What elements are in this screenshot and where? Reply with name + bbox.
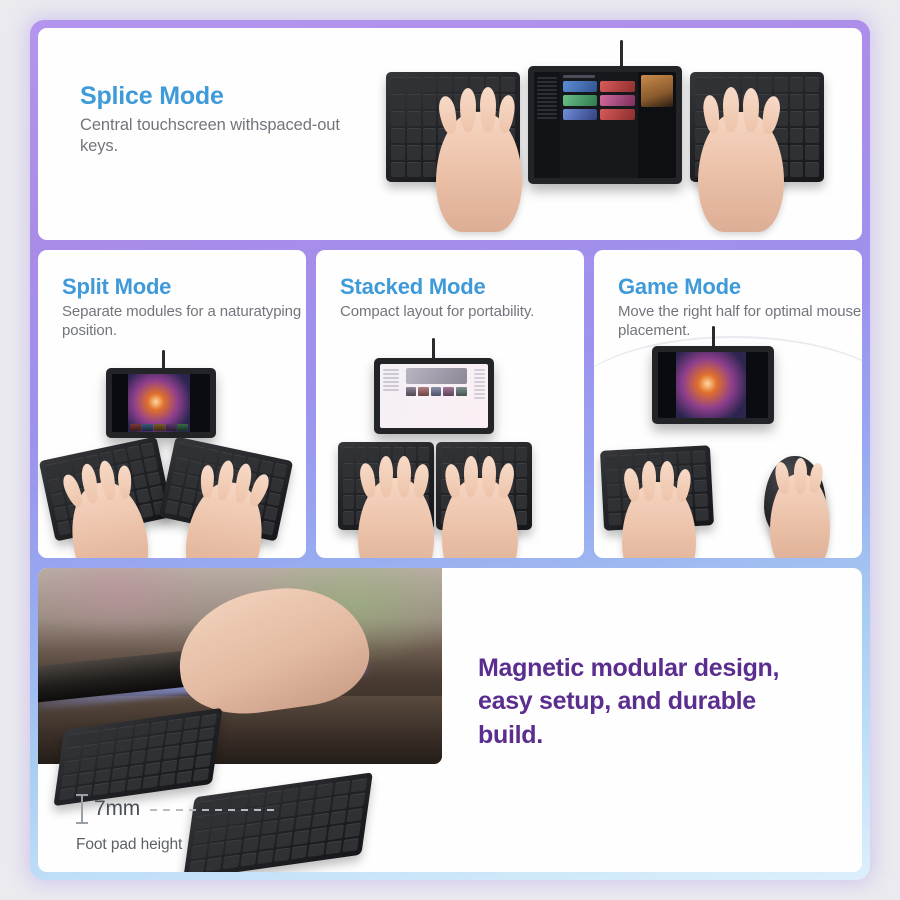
keyboard-module-front-right (183, 772, 373, 872)
panel-game-mode: Game Mode Move the right half for optima… (594, 250, 862, 558)
splice-product-image (38, 28, 862, 240)
cable (432, 338, 435, 360)
music-app-ui (534, 72, 676, 178)
game-stream-ui (658, 352, 768, 418)
hand-left (358, 478, 434, 558)
hero-claim-text: Magnetic modular design, easy setup, and… (478, 652, 822, 752)
hand-right (698, 112, 784, 232)
stacked-product-image (316, 250, 584, 558)
cable (712, 326, 715, 348)
product-feature-frame: Splice Mode Central touchscreen withspac… (30, 20, 870, 880)
center-touchscreen[interactable] (528, 66, 682, 184)
panel-hero-claim: 7mm Foot pad height Magnetic modular des… (38, 568, 862, 872)
split-product-image (38, 250, 306, 558)
hero-claim-side: Magnetic modular design, easy setup, and… (442, 568, 862, 872)
stacked-touchscreen[interactable] (374, 358, 494, 434)
browser-ui (380, 364, 488, 428)
hero-photo-side: 7mm Foot pad height (38, 568, 442, 872)
game-touchscreen[interactable] (652, 346, 774, 424)
hand-left (622, 482, 696, 558)
measure-bracket-icon (76, 794, 88, 824)
panel-stacked-mode: Stacked Mode Compact layout for portabil… (316, 250, 584, 558)
game-stream-ui (112, 374, 210, 432)
hand-right (442, 478, 518, 558)
measurement-callout: 7mm (76, 794, 140, 824)
game-product-image (594, 250, 862, 558)
measurement-dashed-line (150, 809, 280, 811)
measurement-label: Foot pad height (76, 836, 182, 854)
panel-split-mode: Split Mode Separate modules for a natura… (38, 250, 306, 558)
cable (162, 350, 165, 370)
panel-splice-mode: Splice Mode Central touchscreen withspac… (38, 28, 862, 240)
hand-left (436, 112, 522, 232)
measurement-value: 7mm (94, 797, 140, 821)
split-touchscreen[interactable] (106, 368, 216, 438)
